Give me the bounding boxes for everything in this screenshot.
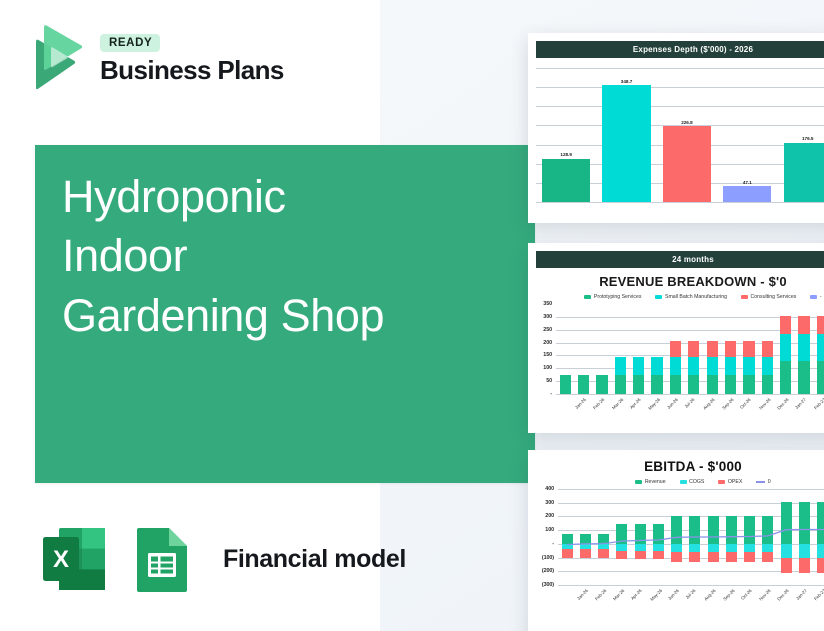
revenue-stacked-bar-chart: 35030025020015010050-Jan-26Feb-26Mar-26A… [536,304,824,414]
bar-segment-1-8 [708,544,719,552]
xaxis-label-3: Apr-26 [629,397,642,410]
legend-line-swatch [756,481,765,483]
bar-column-0 [560,304,571,394]
xaxis-label-9: Oct-26 [739,397,752,410]
bar-column-10 [743,304,754,394]
bar-segment-1-7 [688,357,699,375]
gridline-7 [558,585,824,586]
bar-segment-1-13 [798,334,809,361]
bar-segment-0-12 [781,502,792,544]
bar-0 [542,159,590,202]
bar-segment-0-10 [743,375,754,394]
ytick-5: (100) [536,555,554,561]
bar-column-13 [798,304,809,394]
bar-segment-1-9 [726,544,737,552]
legend-item-0: Prototyping Services [584,294,641,300]
bar-segment-1-14 [817,544,824,558]
bar-segment-0-3 [615,375,626,394]
gridline-7 [536,202,824,203]
bar-segment-1-4 [633,357,644,375]
legend-swatch-1 [655,295,662,299]
financial-model-label: Financial model [223,545,406,574]
ytick-7: - [536,391,552,397]
bar-segment-0-6 [671,516,682,544]
ebitda-chart-title: EBITDA - $'000 [528,459,824,474]
bar-value-label-0: 128.9 [542,152,590,157]
revenue-chart-header: 24 months [536,251,824,268]
bar-segment-1-9 [725,357,736,375]
legend-item-3: - [810,294,821,300]
bar-segment-0-0 [560,375,571,394]
bar-segment-2-10 [744,552,755,562]
gridline-1 [536,87,824,88]
bar-segment-0-9 [726,516,737,544]
legend-label-1: COGS [689,479,704,485]
chart-card-revenue[interactable]: 24 months REVENUE BREAKDOWN - $'0 Protot… [528,243,824,433]
xaxis-label-5: Jun-26 [666,397,679,410]
xaxis-label-6: Jul-26 [685,588,697,600]
xaxis-label-11: Dec-26 [776,397,790,411]
ready-badge: READY [100,34,160,53]
ytick-0: 350 [536,301,552,307]
bar-column-5 [651,304,662,394]
bar-column-8 [707,304,718,394]
bar-segment-0-7 [688,375,699,394]
legend-label-3: - [820,294,822,300]
xaxis-label-13: Feb-27 [813,588,824,601]
bar-segment-2-11 [762,341,773,356]
chart-card-ebitda[interactable]: EBITDA - $'000 RevenueCOGSOPEX0 40030020… [528,450,824,631]
svg-text:X: X [53,546,69,573]
bar-segment-2-12 [781,558,792,572]
bar-column-7 [688,304,699,394]
xaxis-label-7: Aug-26 [704,588,718,602]
xaxis-label-10: Nov-26 [758,397,772,411]
bar-segment-0-13 [798,361,809,394]
legend-item-0: Revenue [635,479,665,485]
microsoft-excel-icon: X [35,520,113,598]
bar-segment-0-13 [799,502,810,544]
bar-segment-2-9 [726,552,737,562]
legend-label-2: Consulting Services [750,294,796,300]
bar-segment-1-12 [781,544,792,558]
legend-label-2: OPEX [728,479,742,485]
xaxis-label-12: Jan-27 [795,588,808,601]
ytick-4: - [536,541,554,547]
xaxis-label-12: Jan-27 [794,397,807,410]
bar-column-6 [670,304,681,394]
bar-segment-2-11 [762,552,773,562]
xaxis-label-1: Feb-26 [592,397,605,410]
bar-segment-0-0 [562,534,573,544]
xaxis-label-2: Mar-26 [612,588,625,601]
bar-segment-1-14 [817,334,824,361]
xaxis-label-1: Feb-26 [594,588,607,601]
bar-segment-1-4 [635,544,646,551]
page-title-line-3: Gardening Shop [62,286,512,345]
ytick-4: 150 [536,352,552,358]
bar-column-3 [615,304,626,394]
legend-item-line: 0 [756,479,770,485]
xaxis-label-6: Jul-26 [684,397,696,409]
legend-label-0: Prototyping Services [594,294,642,300]
xaxis-label-9: Oct-26 [740,588,753,601]
xaxis-label-3: Apr-26 [630,588,643,601]
bar-segment-1-7 [689,544,700,552]
ytick-6: (200) [536,568,554,574]
bar-segment-2-6 [671,552,682,562]
bar-value-label-4: 176.5 [784,136,824,141]
xaxis-label-2: Mar-26 [611,397,624,410]
bar-value-label-2: 226.8 [663,120,711,125]
xaxis-label-8: Sep-26 [721,397,735,411]
xaxis-label-13: Feb-27 [813,397,824,410]
bar-segment-0-2 [596,375,607,394]
revenue-chart-title: REVENUE BREAKDOWN - $'0 [528,274,824,289]
ytick-3: 200 [536,340,552,346]
bar-segment-2-2 [598,549,609,558]
bar-segment-0-9 [725,375,736,394]
legend-item-1: COGS [680,479,705,485]
bar-segment-2-7 [688,341,699,356]
bar-segment-2-1 [580,549,591,558]
bar-segment-2-12 [780,316,791,335]
legend-swatch-0 [635,480,642,484]
bar-segment-1-5 [651,357,662,375]
ytick-1: 300 [536,500,554,506]
xaxis-label-5: Jun-26 [667,588,680,601]
chart-card-expenses[interactable]: Expenses Depth ($'000) - 2026 128.9348.7… [528,33,824,223]
bar-segment-0-12 [780,361,791,394]
bar-value-label-1: 348.7 [602,79,650,84]
bar-segment-1-11 [762,357,773,375]
bar-segment-1-5 [653,544,664,551]
bar-segment-0-4 [635,524,646,544]
bar-segment-1-10 [744,544,755,552]
legend-item-2: Consulting Services [741,294,796,300]
bar-segment-2-6 [670,341,681,356]
ytick-2: 250 [536,327,552,333]
bar-segment-1-3 [616,544,627,551]
expenses-bar-chart: 128.9348.7226.847.1176.5 [536,68,824,208]
xaxis-label-4: May-26 [649,588,663,602]
brand-name: Business Plans [100,57,284,83]
bar-column-14 [817,304,824,394]
bar-1 [602,85,650,202]
bar-segment-0-2 [598,534,609,544]
bar-segment-1-11 [762,544,773,552]
bar-segment-1-8 [707,357,718,375]
bar-segment-0-5 [651,375,662,394]
xaxis-label-11: Dec-26 [777,588,791,602]
gridline-0 [536,68,824,69]
ytick-1: 300 [536,314,552,320]
bar-segment-2-14 [817,316,824,335]
brand-logo[interactable]: READY Business Plans [26,24,284,90]
xaxis-label-10: Nov-26 [758,588,772,602]
bar-segment-1-6 [671,544,682,552]
bar-column-9 [725,304,736,394]
bar-value-label-3: 47.1 [723,180,771,185]
xaxis-label-7: Aug-26 [703,397,717,411]
xaxis-label-0: Jan-26 [574,397,587,410]
bar-column-12 [780,304,791,394]
gridline-2 [536,106,824,107]
bar-segment-2-5 [653,551,664,559]
bar-segment-0-7 [689,516,700,544]
google-sheets-icon [123,520,201,598]
gridline-0 [558,489,824,490]
legend-item-2: OPEX [718,479,742,485]
bar-segment-1-10 [743,357,754,375]
bar-segment-2-8 [708,552,719,562]
legend-swatch-0 [584,295,591,299]
bar-segment-0-11 [762,375,773,394]
bar-segment-0-6 [670,375,681,394]
bar-column-1 [578,304,589,394]
bar-segment-0-1 [580,534,591,544]
ytick-3: 100 [536,527,554,533]
bar-segment-2-9 [725,341,736,356]
ytick-7: (300) [536,582,554,588]
legend-label-0: Revenue [645,479,666,485]
gridline-7 [556,394,824,395]
page-title-line-2: Indoor [62,226,512,285]
ytick-5: 100 [536,365,552,371]
bar-segment-0-1 [578,375,589,394]
bar-segment-0-10 [744,516,755,544]
bar-segment-0-11 [762,516,773,544]
bar-2 [663,126,711,202]
bar-segment-2-14 [817,558,824,572]
legend-swatch-1 [680,480,687,484]
bar-3 [723,186,771,202]
bar-segment-2-8 [707,341,718,356]
bar-segment-2-0 [562,549,573,558]
legend-item-1: Small Batch Manufacturing [655,294,727,300]
brand-wordmark: READY Business Plans [100,31,284,84]
bar-segment-2-13 [799,558,810,572]
bar-4 [784,143,824,202]
bar-segment-0-8 [707,375,718,394]
bar-column-2 [596,304,607,394]
format-badges: X Financial model [35,520,406,598]
ebitda-stacked-bar-chart: 400300200100-(100)(200)(300)Jan-26Feb-26… [536,489,824,607]
play-triangle-logo-icon [26,24,88,90]
legend-swatch-2 [741,295,748,299]
xaxis-label-0: Jan-26 [576,588,589,601]
bar-segment-0-5 [653,524,664,544]
bar-segment-1-3 [615,357,626,375]
bar-column-11 [762,304,773,394]
bar-segment-1-12 [780,334,791,361]
bar-segment-2-13 [798,316,809,335]
ytick-0: 400 [536,486,554,492]
bar-segment-2-7 [689,552,700,562]
legend-label-line: 0 [768,479,771,485]
bar-column-4 [633,304,644,394]
bar-segment-0-4 [633,375,644,394]
bar-segment-0-14 [817,361,824,394]
legend-swatch-3 [810,295,817,299]
page-title: Hydroponic Indoor Gardening Shop [62,167,512,345]
bar-segment-2-10 [743,341,754,356]
ebitda-chart-legend: RevenueCOGSOPEX0 [528,479,824,485]
xaxis-label-4: May-26 [647,397,661,411]
hero-panel: Hydroponic Indoor Gardening Shop [35,145,535,483]
bar-segment-0-14 [817,502,824,544]
bar-segment-2-3 [616,551,627,559]
bar-segment-2-4 [635,551,646,559]
revenue-chart-legend: Prototyping ServicesSmall Batch Manufact… [528,294,824,300]
ytick-2: 200 [536,513,554,519]
bar-segment-1-6 [670,357,681,375]
expenses-chart-header: Expenses Depth ($'000) - 2026 [536,41,824,58]
ytick-6: 50 [536,378,552,384]
legend-label-1: Small Batch Manufacturing [665,294,727,300]
bar-segment-0-8 [708,516,719,544]
page-title-line-1: Hydroponic [62,167,512,226]
bar-segment-1-13 [799,544,810,558]
legend-swatch-2 [718,480,725,484]
xaxis-label-8: Sep-26 [722,588,736,602]
bar-segment-0-3 [616,524,627,544]
